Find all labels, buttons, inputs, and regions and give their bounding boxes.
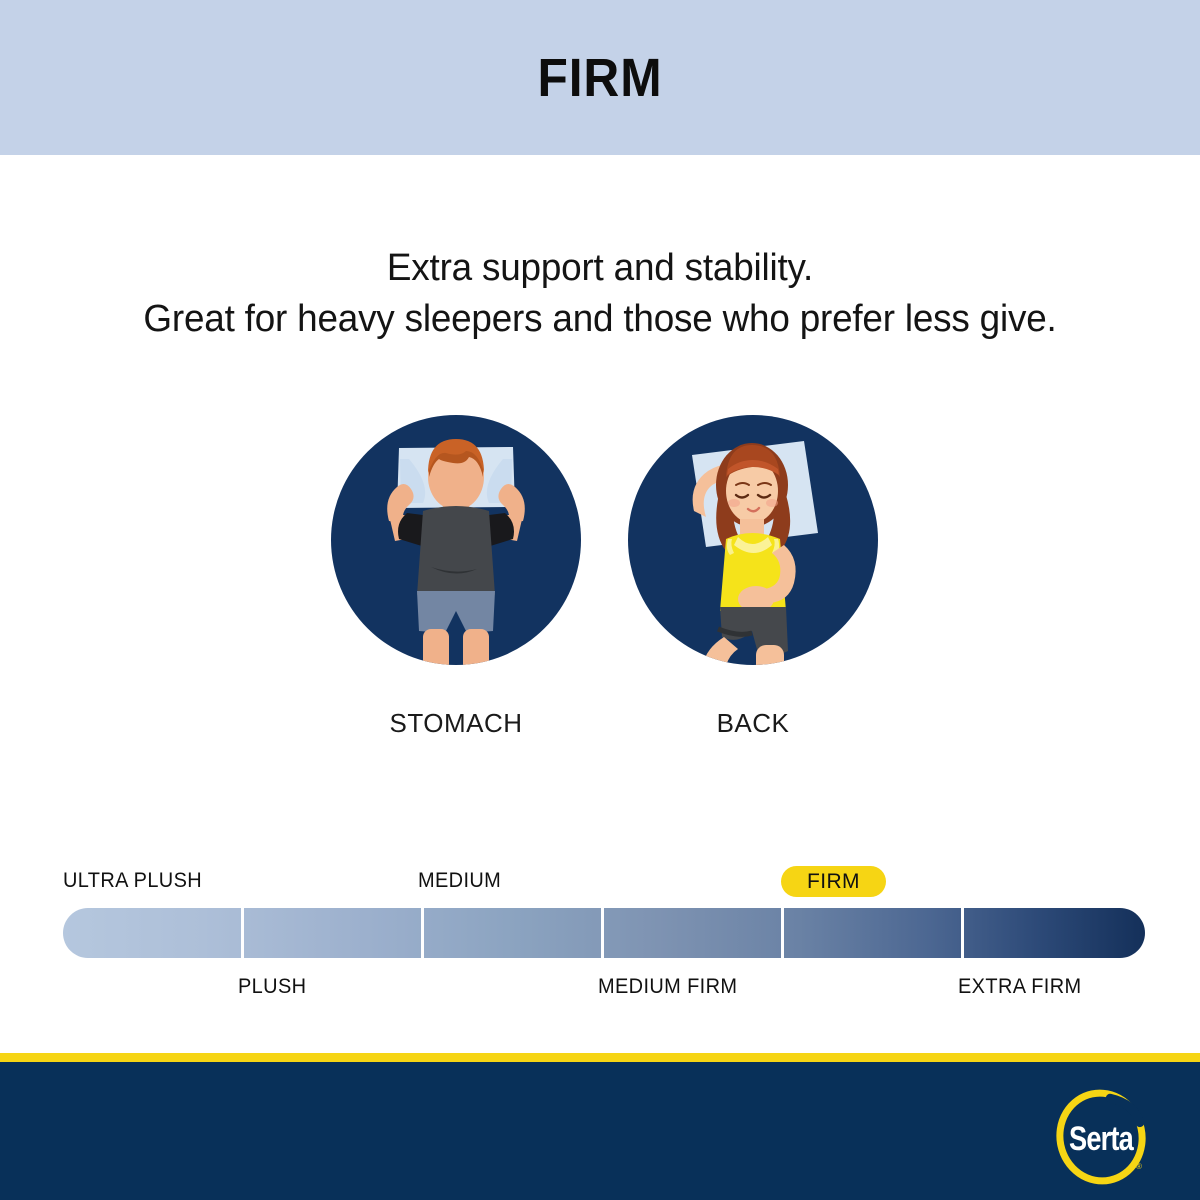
sleep-positions-row [0,415,1200,675]
firmness-labels-bottom: PLUSH MEDIUM FIRM EXTRA FIRM [63,972,1145,1004]
footer-band: Serta ® [0,1062,1200,1200]
stomach-sleeper-illustration [331,415,581,665]
back-sleeper-illustration [628,415,878,665]
firmness-label-firm-selected[interactable]: FIRM [781,866,886,897]
scale-divider [421,908,424,958]
svg-text:Serta: Serta [1069,1119,1135,1158]
scale-divider [781,908,784,958]
firmness-labels-top: ULTRA PLUSH MEDIUM FIRM [63,866,1145,898]
firmness-gradient-bar[interactable] [63,908,1145,958]
firmness-label-medium[interactable]: MEDIUM [418,866,501,896]
caption-back: BACK [628,708,878,739]
page-title: FIRM [537,51,662,105]
scale-divider [601,908,604,958]
svg-text:®: ® [1136,1162,1142,1171]
scale-divider [961,908,964,958]
subtitle-line-2: Great for heavy sleepers and those who p… [18,294,1182,345]
firmness-label-plush[interactable]: PLUSH [238,972,306,1002]
subtitle-line-1: Extra support and stability. [18,243,1182,294]
firmness-scale: ULTRA PLUSH MEDIUM FIRM PLUSH MEDIUM FIR… [63,866,1145,996]
firmness-label-extra-firm[interactable]: EXTRA FIRM [958,972,1082,1002]
header-band: FIRM [0,0,1200,155]
firmness-label-medium-firm[interactable]: MEDIUM FIRM [598,972,737,1002]
footer-accent-stripe [0,1053,1200,1062]
scale-divider [241,908,244,958]
serta-logo[interactable]: Serta ® [1046,1089,1156,1185]
firmness-label-ultra-plush[interactable]: ULTRA PLUSH [63,866,202,896]
caption-stomach: STOMACH [331,708,581,739]
subtitle: Extra support and stability. Great for h… [0,243,1200,345]
